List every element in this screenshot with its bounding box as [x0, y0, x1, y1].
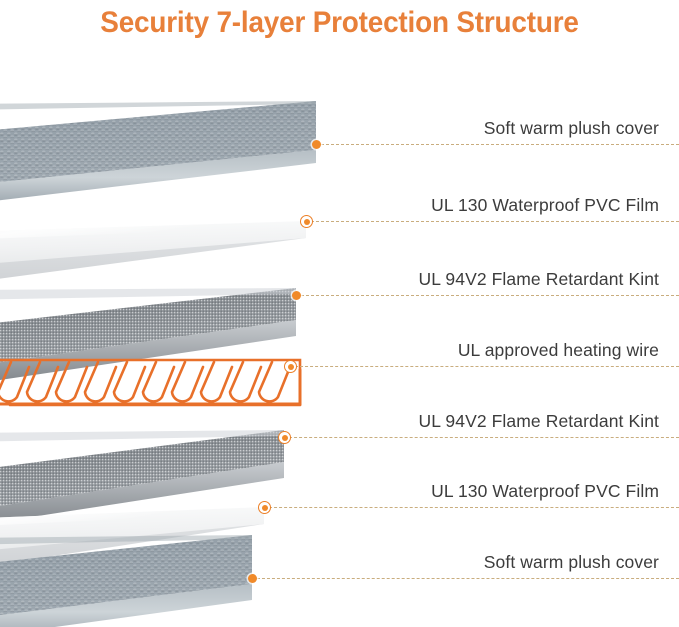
callout-label-2: UL 130 Waterproof PVC Film — [431, 195, 659, 221]
layer-1-plush-cover — [0, 95, 360, 205]
callout-marker-2[interactable] — [300, 215, 313, 228]
callout-marker-4[interactable] — [284, 360, 297, 373]
callout-marker-3[interactable] — [292, 291, 301, 300]
callout-label-6: UL 130 Waterproof PVC Film — [431, 481, 659, 507]
layer-stack-illustration — [0, 0, 679, 627]
callout-label-4: UL approved heating wire — [458, 340, 659, 366]
layer-stack-diagram: Soft warm plush cover UL 130 Waterproof … — [0, 0, 679, 627]
layer-2-pvc-film — [0, 221, 306, 284]
callout-marker-7[interactable] — [248, 574, 257, 583]
callout-label-1: Soft warm plush cover — [484, 118, 659, 144]
callout-marker-1[interactable] — [312, 140, 321, 149]
callout-label-7: Soft warm plush cover — [484, 552, 659, 578]
callout-marker-5[interactable] — [278, 431, 291, 444]
callout-label-5: UL 94V2 Flame Retardant Kint — [419, 411, 659, 437]
callout-label-3: UL 94V2 Flame Retardant Kint — [419, 269, 659, 295]
callout-marker-6[interactable] — [258, 501, 271, 514]
